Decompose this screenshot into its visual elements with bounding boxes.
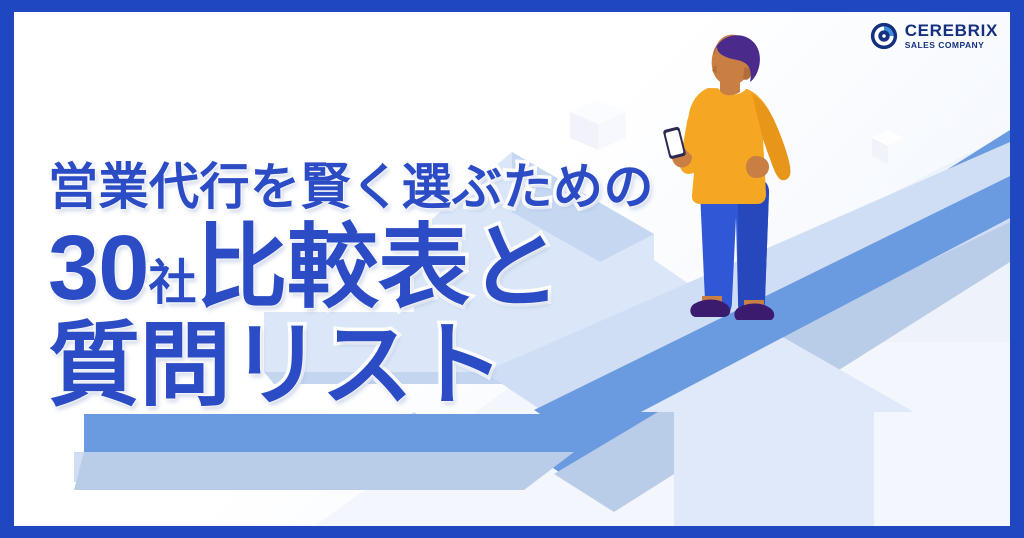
cerebrix-logo: CEREBRIX SALES COMPANY [870, 22, 998, 50]
chevron-lower-strong-shade [74, 452, 574, 490]
white-cube-right [872, 130, 904, 164]
logo-tagline: SALES COMPANY [905, 41, 998, 50]
banner-frame: 営業代行を賢く選ぶための 30社比較表と 質問リスト CEREBRIX SALE… [0, 0, 1024, 538]
headline-line-1: 営業代行を賢く選ぶための [48, 162, 748, 212]
smartphone [663, 126, 687, 159]
white-cube-left [570, 100, 626, 150]
banner-canvas: 営業代行を賢く選ぶための 30社比較表と 質問リスト CEREBRIX SALE… [14, 12, 1010, 526]
logo-name: CEREBRIX [905, 22, 998, 39]
logo-text-group: CEREBRIX SALES COMPANY [905, 22, 998, 50]
headline-block: 営業代行を賢く選ぶための 30社比較表と 質問リスト [48, 162, 748, 412]
headline-line-3: 質問リスト [48, 320, 748, 412]
headline-line-2-rest: 比較表と [196, 217, 560, 319]
chevron-lower-strong [84, 414, 574, 452]
hand-right [746, 156, 769, 178]
swirl-circle-icon [870, 22, 898, 50]
headline-counter: 社 [149, 257, 196, 310]
headline-number: 30 [48, 217, 149, 319]
headline-line-2: 30社比較表と [48, 222, 748, 314]
